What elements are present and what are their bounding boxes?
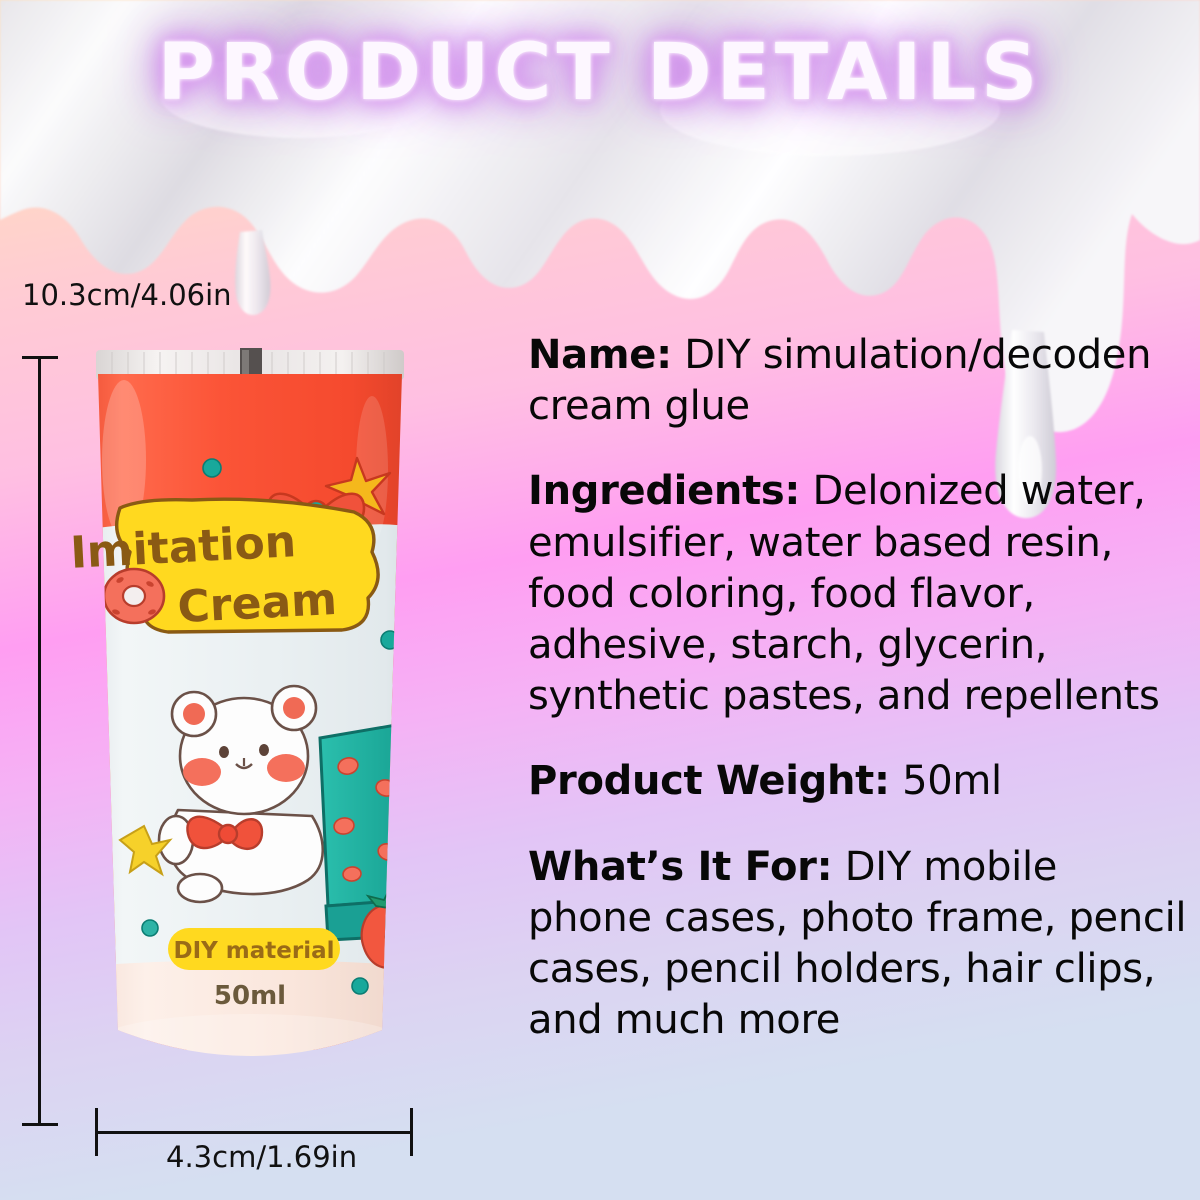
spec-item-usage: What’s It For: DIY mobile phone cases, p…	[528, 842, 1188, 1047]
spec-label-usage: What’s It For:	[528, 844, 832, 890]
width-measure-line	[95, 1131, 413, 1134]
confetti-dot	[352, 978, 368, 994]
spec-label-ingredients: Ingredients:	[528, 468, 800, 514]
spec-item-weight: Product Weight: 50ml	[528, 756, 1188, 807]
brand-name-line2: Cream	[176, 574, 338, 633]
product-spec-list: Name: DIY simulation/decoden cream glue …	[528, 330, 1188, 1046]
donut-decoration	[104, 569, 164, 623]
spec-item-name: Name: DIY simulation/decoden cream glue	[528, 330, 1188, 432]
height-measure-line	[38, 356, 41, 1126]
product-tube-image: Imitation Cream DIY material 50ml	[72, 340, 428, 1110]
confetti-dot	[142, 920, 158, 936]
confetti-dot	[203, 459, 221, 477]
width-dimension-label: 4.3cm/1.69in	[166, 1140, 357, 1174]
spec-value-weight: 50ml	[890, 758, 1002, 804]
page-title: PRODUCT DETAILS	[0, 28, 1200, 118]
height-dimension-label: 10.3cm/4.06in	[22, 278, 232, 312]
spec-item-ingredients: Ingredients: Delonized water, emulsifier…	[528, 466, 1188, 722]
confetti-dot	[381, 631, 399, 649]
spec-label-name: Name:	[528, 332, 672, 378]
volume-text: 50ml	[214, 981, 286, 1011]
diy-material-badge-text: DIY material	[173, 938, 334, 964]
page-title-container: PRODUCT DETAILS	[0, 28, 1200, 118]
height-measure-bottom-cap	[22, 1123, 58, 1126]
spec-label-weight: Product Weight:	[528, 758, 890, 804]
mini-tube-illustration	[320, 724, 408, 940]
width-measure-right-cap	[410, 1108, 413, 1156]
